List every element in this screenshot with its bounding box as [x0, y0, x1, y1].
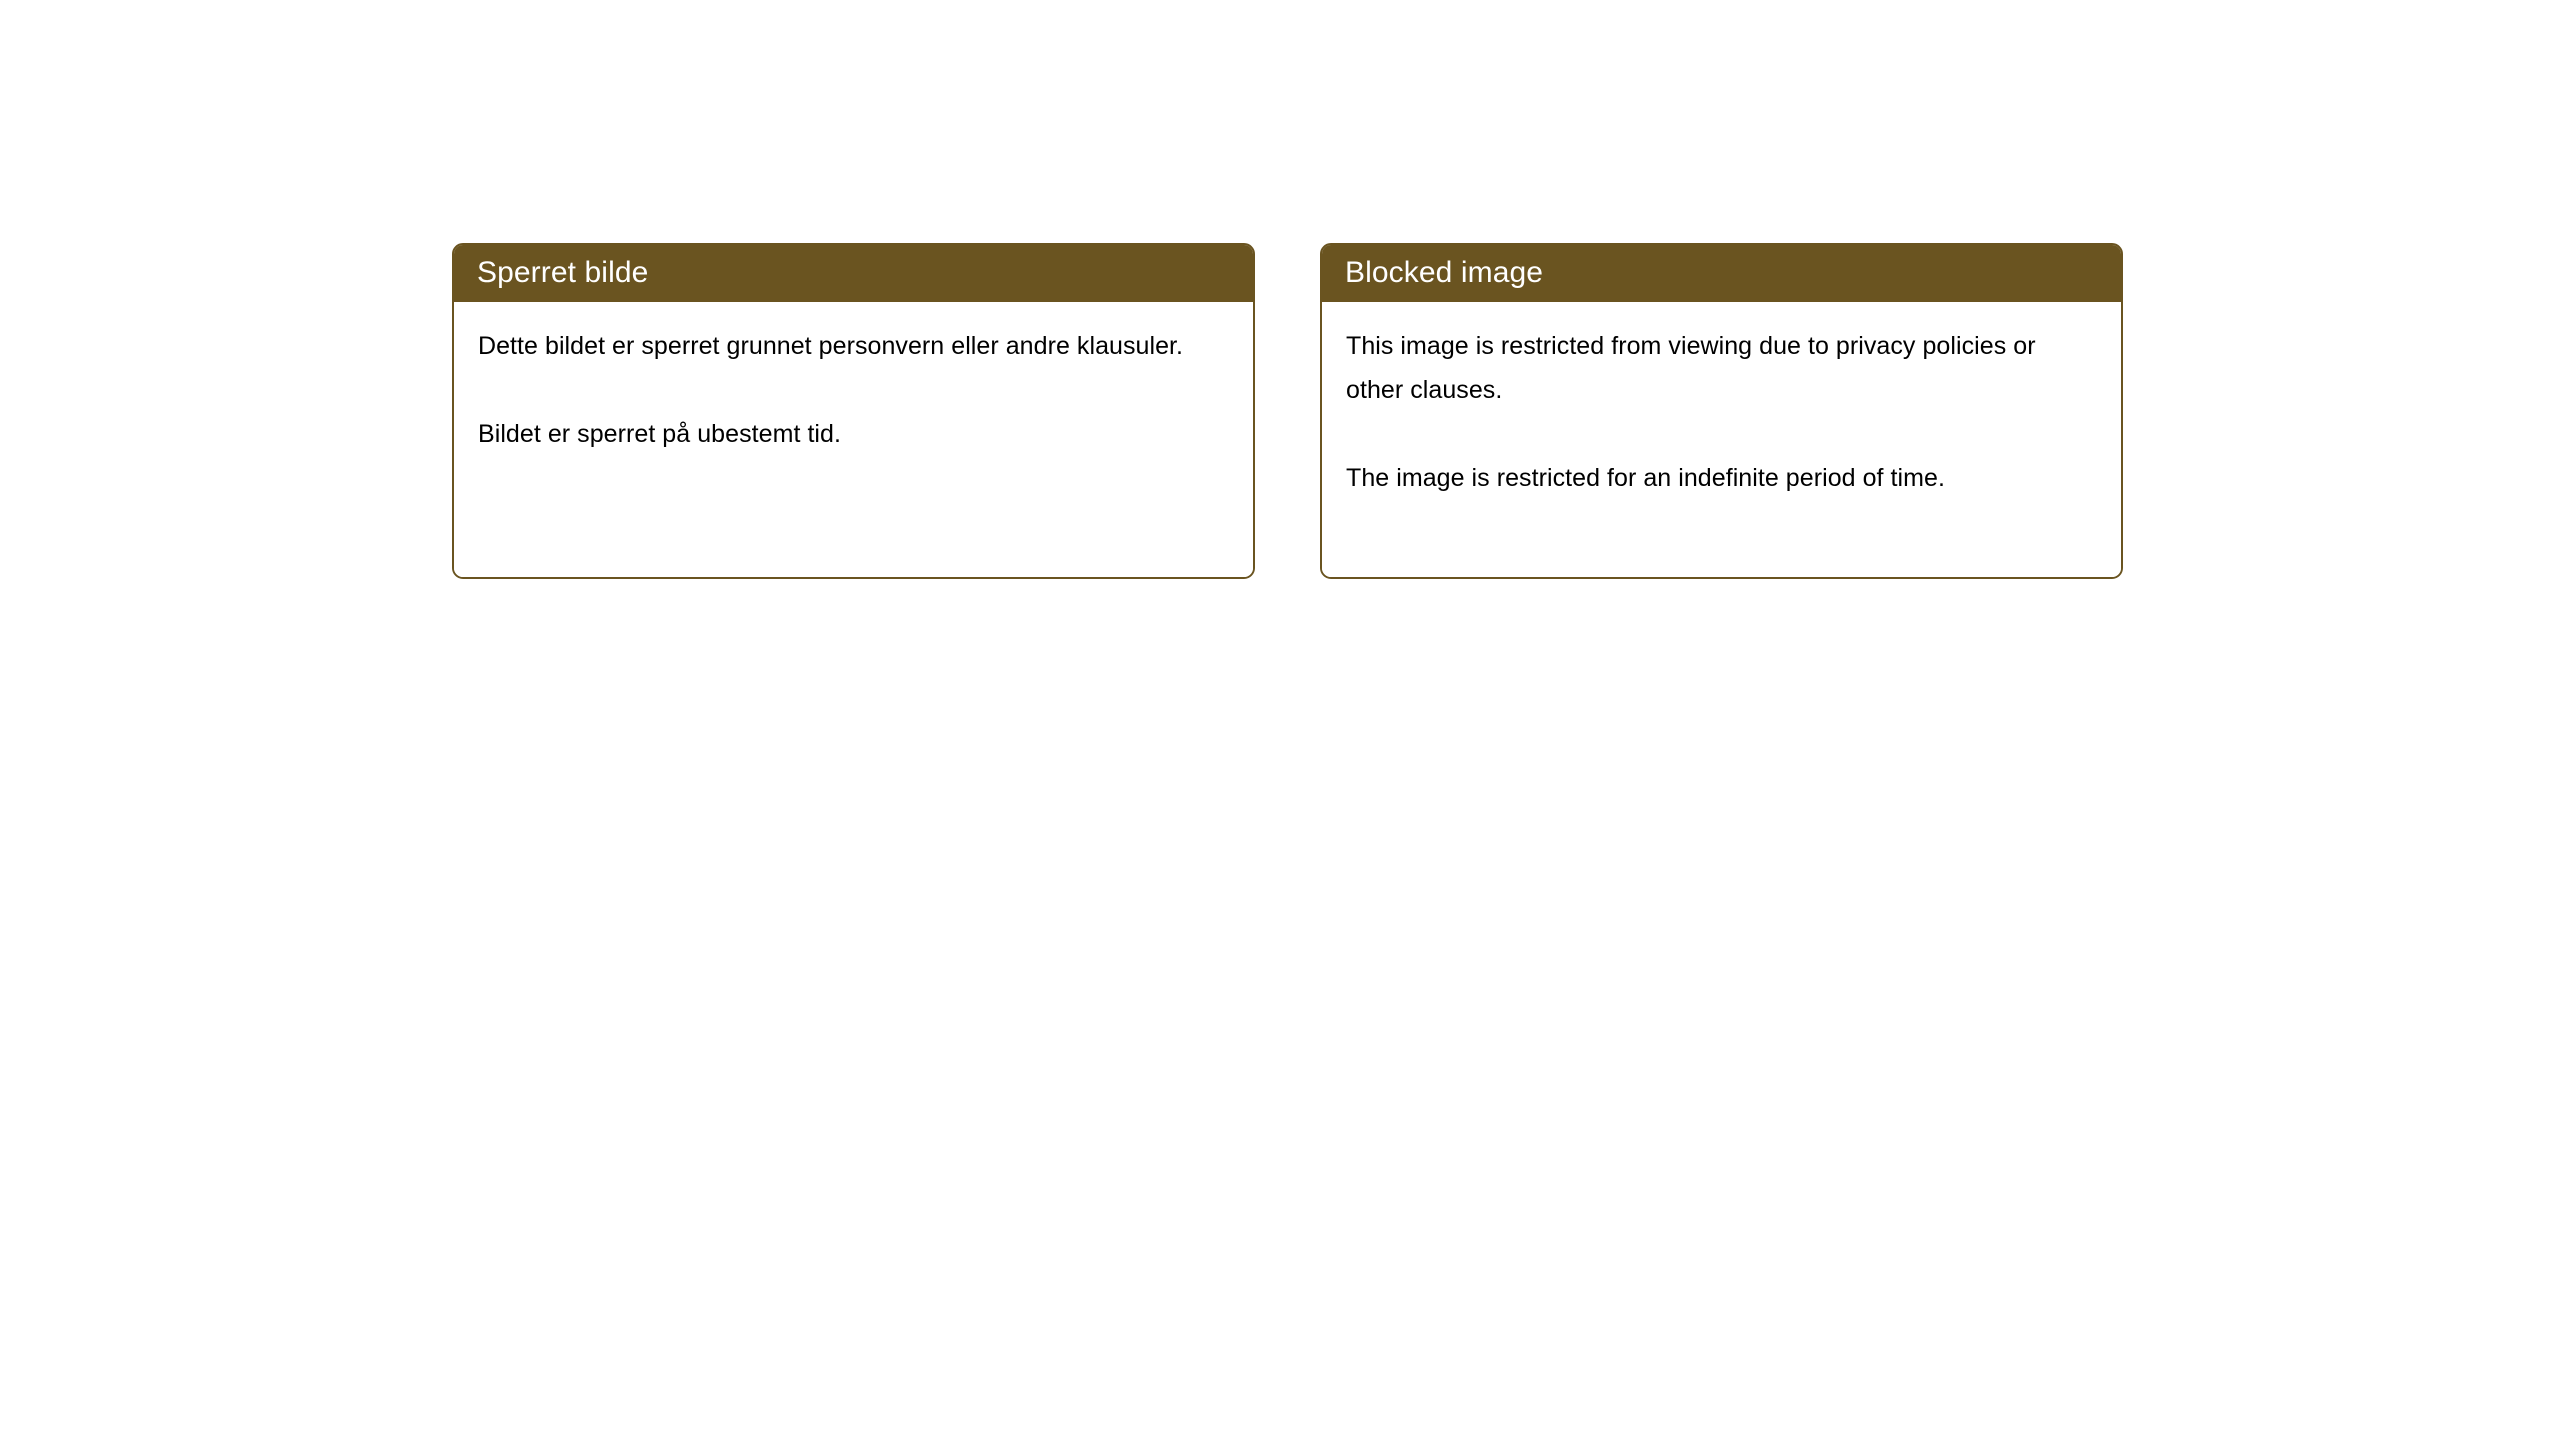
notice-card-title: Sperret bilde	[477, 256, 648, 290]
notice-card-header: Blocked image	[1321, 244, 2122, 302]
notice-paragraph-primary: This image is restricted from viewing du…	[1346, 324, 2097, 412]
notice-card-body: This image is restricted from viewing du…	[1322, 302, 2121, 577]
notice-card-title: Blocked image	[1345, 256, 1543, 290]
blocked-image-notice-card-norwegian: Sperret bilde Dette bildet er sperret gr…	[452, 243, 1255, 579]
blocked-image-notice-card-english: Blocked image This image is restricted f…	[1320, 243, 2123, 579]
notice-paragraph-secondary: The image is restricted for an indefinit…	[1346, 456, 2097, 500]
notice-card-row: Sperret bilde Dette bildet er sperret gr…	[452, 243, 2123, 579]
notice-card-header: Sperret bilde	[453, 244, 1254, 302]
notice-paragraph-primary: Dette bildet er sperret grunnet personve…	[478, 324, 1229, 368]
notice-paragraph-secondary: Bildet er sperret på ubestemt tid.	[478, 412, 1229, 456]
notice-card-body: Dette bildet er sperret grunnet personve…	[454, 302, 1253, 577]
page-root: Sperret bilde Dette bildet er sperret gr…	[0, 0, 2560, 1440]
